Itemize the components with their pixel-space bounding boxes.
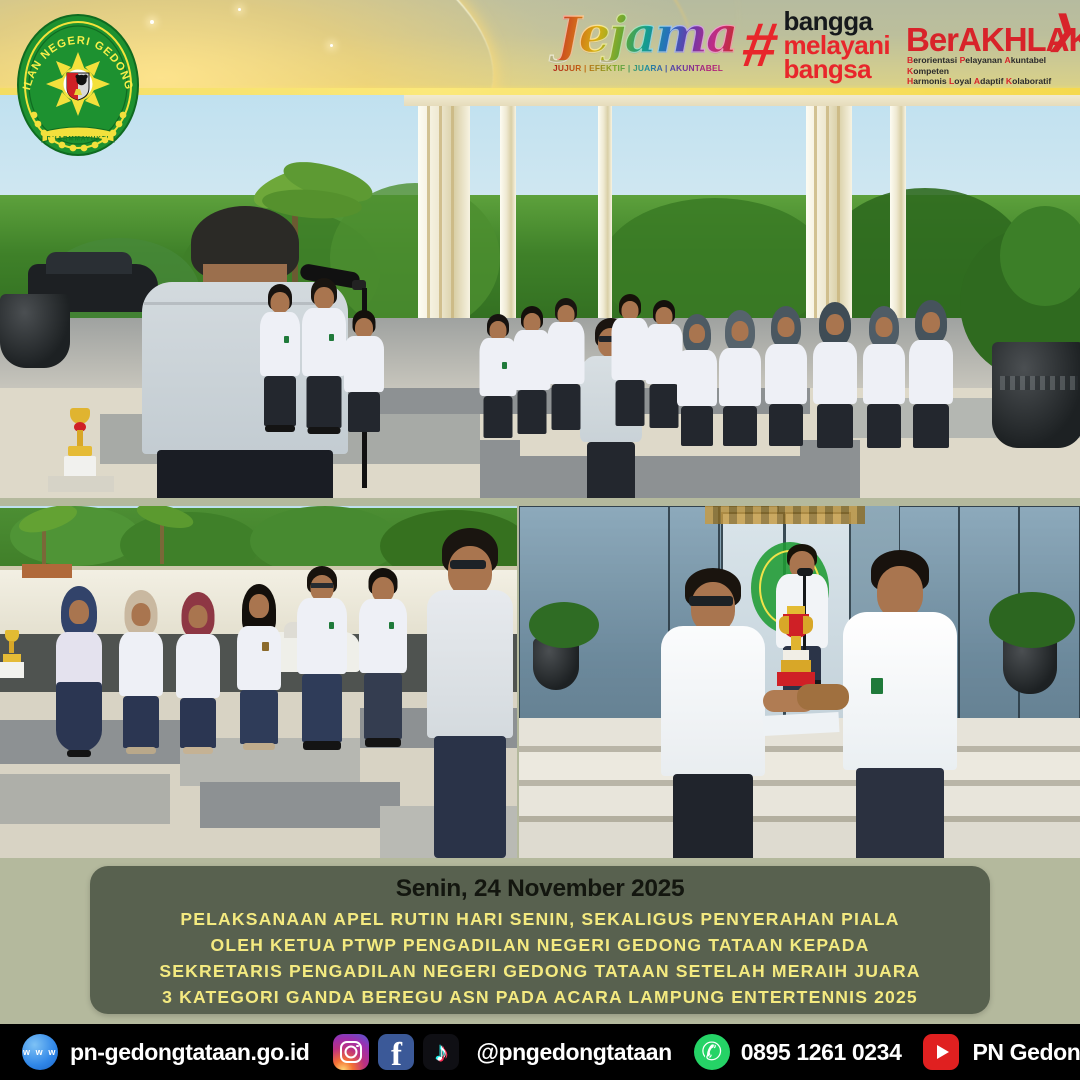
social-handle-item[interactable]: f ♪ @pngedongtataan bbox=[333, 1034, 671, 1070]
footer-contact-bar: w w w pn-gedongtataan.go.id f ♪ @pngedon… bbox=[0, 1024, 1080, 1080]
website-text: pn-gedongtataan.go.id bbox=[70, 1039, 309, 1066]
whatsapp-icon[interactable]: ✆ bbox=[694, 1034, 730, 1070]
globe-www-icon[interactable]: w w w bbox=[22, 1034, 58, 1070]
person-right-handshake bbox=[839, 550, 961, 858]
berakhlak-subtitle-line-1: Berorientasi Pelayanan Akuntabel Kompete… bbox=[907, 55, 1071, 76]
whatsapp-number: 0895 1261 0234 bbox=[741, 1039, 902, 1066]
photo-top-accent bbox=[0, 88, 1080, 95]
certificate-paper bbox=[763, 712, 840, 736]
www-icon-label: w w w bbox=[23, 1047, 57, 1057]
person-attendee-hijab bbox=[55, 586, 103, 756]
person-attendee bbox=[358, 568, 408, 754]
person-attendee-hijab bbox=[908, 300, 954, 448]
caption-line-1: PELAKSANAAN APEL RUTIN HARI SENIN, SEKAL… bbox=[102, 907, 978, 933]
trophy-icon bbox=[60, 408, 100, 480]
person-attendee-hijab bbox=[718, 310, 762, 446]
bangga-melayani-bangsa-logo: # bangga melayani bangsa bbox=[743, 9, 890, 83]
trophy-icon bbox=[0, 630, 24, 682]
instagram-icon[interactable] bbox=[333, 1034, 369, 1070]
sparkle-icon bbox=[330, 44, 333, 47]
berakhlak-logo: BerAKHLAK ❯ Berorientasi Pelayanan Akunt… bbox=[906, 11, 1072, 81]
person-attendee bbox=[258, 284, 302, 434]
sparkle-icon bbox=[150, 20, 154, 24]
photo-bottom-right-penyerahan-piala bbox=[519, 506, 1080, 858]
youtube-channel: PN Gedong Tataan bbox=[972, 1039, 1080, 1066]
caption-line-4: 3 KATEGORI GANDA BEREGU ASN PADA ACARA L… bbox=[102, 985, 978, 1011]
person-attendee bbox=[546, 298, 586, 438]
caption-line-2: OLEH KETUA PTWP PENGADILAN NEGERI GEDONG… bbox=[102, 933, 978, 959]
planter-pot bbox=[0, 294, 70, 368]
caption-line-3: SEKRETARIS PENGADILAN NEGERI GEDONG TATA… bbox=[102, 959, 978, 985]
caption-date: Senin, 24 November 2025 bbox=[102, 875, 978, 902]
photo-main-apel bbox=[0, 88, 1080, 498]
caption-panel: Senin, 24 November 2025 PELAKSANAAN APEL… bbox=[90, 866, 990, 1014]
court-seal-logo: PENGADILAN NEGERI GEDONG TATAAN bbox=[14, 12, 142, 158]
building-column bbox=[890, 88, 906, 338]
jejama-logo: Jejama JUJUR | EFEKTIF | JUARA | AKUNTAB… bbox=[549, 10, 727, 82]
sparkle-icon bbox=[238, 8, 241, 11]
youtube-item[interactable]: PN Gedong Tataan bbox=[923, 1034, 1080, 1070]
building-column bbox=[418, 88, 470, 338]
youtube-icon[interactable] bbox=[923, 1034, 959, 1070]
person-attendee bbox=[235, 584, 283, 756]
poster-canvas: PENGADILAN NEGERI GEDONG TATAAN bbox=[0, 0, 1080, 1080]
facebook-icon-glyph: f bbox=[391, 1040, 402, 1070]
facebook-icon[interactable]: f bbox=[378, 1034, 414, 1070]
whatsapp-item[interactable]: ✆ 0895 1261 0234 bbox=[694, 1034, 902, 1070]
jejama-wordmark: Jejama bbox=[557, 10, 736, 60]
social-handle-text: @pngedongtataan bbox=[476, 1039, 671, 1066]
person-attendee-hijab bbox=[175, 592, 221, 754]
building-column bbox=[806, 88, 852, 338]
person-attendee-hijab bbox=[764, 306, 808, 446]
jejama-tagline: JUJUR | EFEKTIF | JUARA | AKUNTABEL | MA… bbox=[553, 63, 725, 73]
person-left-handshake bbox=[657, 568, 769, 858]
person-attendee-hijab bbox=[812, 302, 858, 448]
building-column bbox=[500, 88, 516, 336]
website-item[interactable]: w w w pn-gedongtataan.go.id bbox=[22, 1034, 309, 1070]
seal-ribbon-text: DHARMMAYUKTI bbox=[47, 136, 110, 143]
person-foreground-right bbox=[424, 528, 516, 858]
berakhlak-subtitle: Berorientasi Pelayanan Akuntabel Kompete… bbox=[907, 55, 1071, 87]
planter-pot bbox=[992, 342, 1080, 448]
brand-logo-row: Jejama JUJUR | EFEKTIF | JUARA | AKUNTAB… bbox=[549, 6, 1072, 86]
whatsapp-icon-glyph: ✆ bbox=[701, 1040, 722, 1065]
hashtag-icon: # bbox=[740, 21, 781, 71]
photo-bottom-left-barisan bbox=[0, 506, 517, 858]
person-attendee bbox=[296, 566, 348, 756]
berakhlak-subtitle-line-2: Harmonis Loyal Adaptif Kolaboratif bbox=[907, 76, 1071, 87]
person-attendee-hijab bbox=[118, 590, 164, 754]
person-attendee bbox=[300, 278, 348, 436]
person-attendee bbox=[342, 310, 386, 436]
tiktok-icon[interactable]: ♪ bbox=[423, 1034, 459, 1070]
tiktok-icon-glyph: ♪ bbox=[435, 1039, 449, 1066]
person-attendee-hijab bbox=[862, 306, 906, 448]
person-attendee-hijab bbox=[676, 314, 718, 446]
